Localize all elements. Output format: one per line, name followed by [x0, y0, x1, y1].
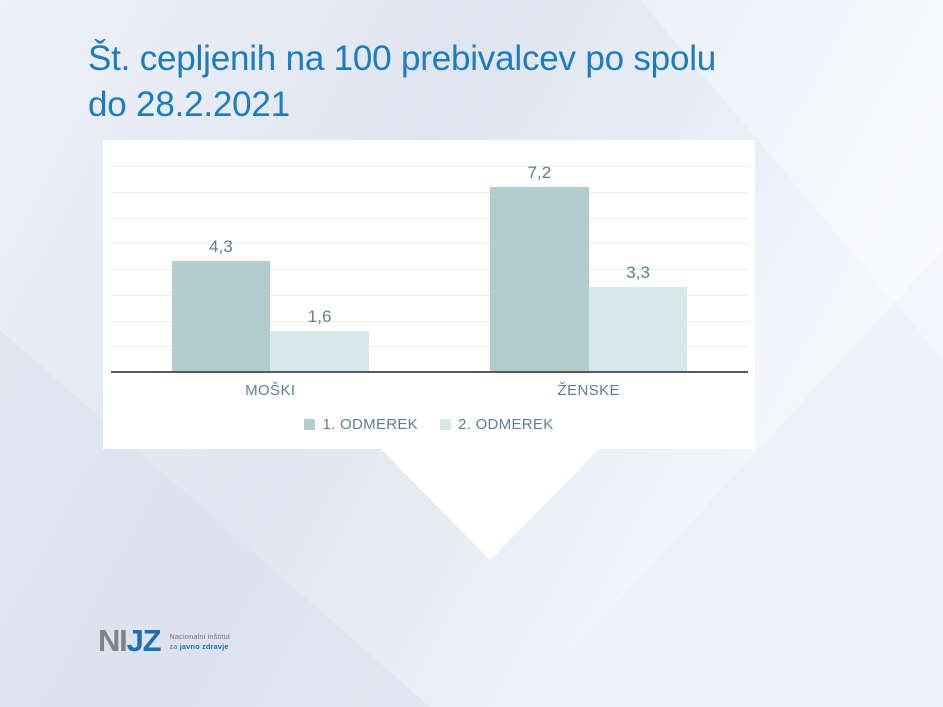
category-axis: MOŠKIŽENSKE: [111, 382, 748, 399]
legend-item[interactable]: 1. ODMEREK: [304, 416, 418, 433]
bar-groups: 4,31,67,23,3: [111, 166, 748, 372]
bar-value-label: 4,3: [209, 237, 233, 257]
bar[interactable]: 1,6: [270, 331, 369, 372]
logo-wordmark: NIJZ: [98, 625, 160, 656]
legend-item[interactable]: 2. ODMEREK: [440, 416, 554, 433]
bar-group: 7,23,3: [430, 166, 749, 372]
page-title: Št. cepljenih na 100 prebivalcev po spol…: [88, 36, 848, 128]
chart-card: 4,31,67,23,3 MOŠKIŽENSKE 1. ODMEREK2. OD…: [103, 140, 755, 449]
legend-swatch-icon: [304, 419, 315, 430]
bar-group: 4,31,6: [111, 166, 430, 372]
logo-tagline: Nacionalni inštitut za javno zdravje: [169, 630, 230, 651]
chart-plot-area: 4,31,67,23,3: [111, 166, 748, 372]
nijz-logo: NIJZ Nacionalni inštitut za javno zdravj…: [98, 625, 230, 656]
bar[interactable]: 4,3: [172, 261, 271, 372]
logo-tagline-line1: Nacionalni inštitut: [169, 632, 230, 641]
legend-swatch-icon: [440, 419, 451, 430]
logo-tagline-bold: javno zdravje: [180, 642, 229, 651]
axis-baseline: [111, 371, 748, 373]
logo-tagline-line2: za javno zdravje: [169, 642, 230, 651]
bar-slot: 4,3: [172, 166, 271, 372]
logo-tagline-prefix: za: [169, 642, 179, 651]
logo-ni-text: NI: [98, 623, 127, 658]
legend-label: 1. ODMEREK: [322, 416, 418, 433]
bar-value-label: 1,6: [308, 307, 332, 327]
chart-legend: 1. ODMEREK2. ODMEREK: [103, 416, 755, 433]
bar-slot: 1,6: [270, 166, 369, 372]
logo-jz-text: JZ: [127, 623, 161, 658]
bar-slot: 3,3: [589, 166, 688, 372]
bar[interactable]: 7,2: [490, 187, 589, 372]
category-label: MOŠKI: [111, 382, 430, 399]
legend-label: 2. ODMEREK: [458, 416, 554, 433]
bar-slot: 7,2: [490, 166, 589, 372]
slide-canvas: Št. cepljenih na 100 prebivalcev po spol…: [0, 0, 943, 707]
bar-value-label: 3,3: [626, 263, 650, 283]
bar-value-label: 7,2: [528, 163, 552, 183]
bar[interactable]: 3,3: [589, 287, 688, 372]
category-label: ŽENSKE: [430, 382, 749, 399]
